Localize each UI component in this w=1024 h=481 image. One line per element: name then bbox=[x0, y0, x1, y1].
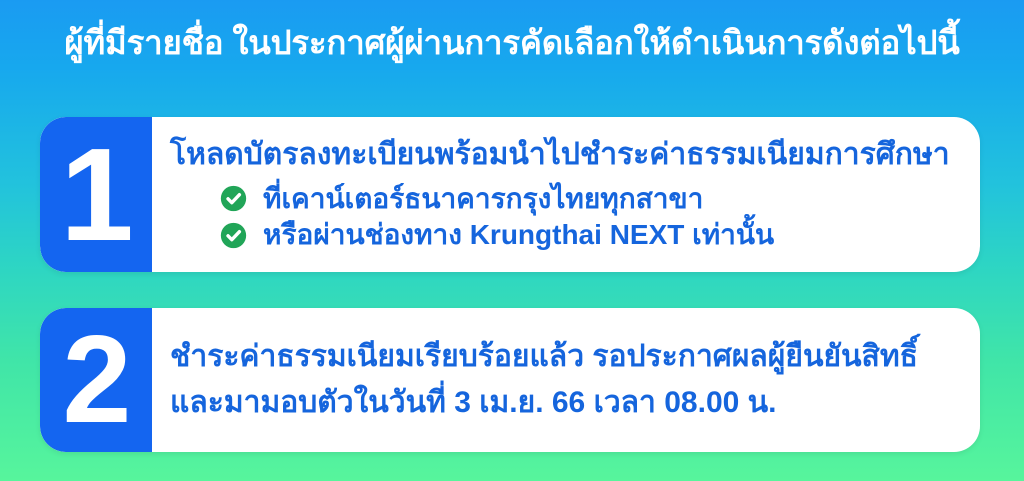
check-circle-icon bbox=[220, 185, 247, 212]
announcement-poster: ผู้ที่มีรายชื่อ ในประกาศผู้ผ่านการคัดเลื… bbox=[0, 0, 1024, 481]
step-number-badge-2: 2 bbox=[40, 308, 152, 452]
step-number-badge-1: 1 bbox=[40, 117, 152, 272]
step-card-1-body: โหลดบัตรลงทะเบียนพร้อมนำไปชำระค่าธรรมเนี… bbox=[152, 117, 980, 272]
step-2-line-1: ชำระค่าธรรมเนียมเรียบร้อยแล้ว รอประกาศผล… bbox=[170, 334, 962, 381]
step-card-2: 2 ชำระค่าธรรมเนียมเรียบร้อยแล้ว รอประกาศ… bbox=[40, 308, 980, 452]
step-card-2-body: ชำระค่าธรรมเนียมเรียบร้อยแล้ว รอประกาศผล… bbox=[152, 308, 980, 452]
check-circle-icon bbox=[220, 222, 247, 249]
step-1-bullet-list: ที่เคาน์เตอร์ธนาคารกรุงไทยทุกสาขา หรือผ่… bbox=[170, 179, 962, 255]
step-1-heading: โหลดบัตรลงทะเบียนพร้อมนำไปชำระค่าธรรมเนี… bbox=[170, 134, 962, 177]
list-item: หรือผ่านช่องทาง Krungthai NEXT เท่านั้น bbox=[170, 218, 962, 252]
page-title: ผู้ที่มีรายชื่อ ในประกาศผู้ผ่านการคัดเลื… bbox=[0, 22, 1024, 63]
list-item: ที่เคาน์เตอร์ธนาคารกรุงไทยทุกสาขา bbox=[170, 182, 962, 216]
step-1-bullet-text: ที่เคาน์เตอร์ธนาคารกรุงไทยทุกสาขา bbox=[263, 182, 703, 216]
step-card-1: 1 โหลดบัตรลงทะเบียนพร้อมนำไปชำระค่าธรรมเ… bbox=[40, 117, 980, 272]
step-1-bullet-text: หรือผ่านช่องทาง Krungthai NEXT เท่านั้น bbox=[263, 218, 774, 252]
step-2-line-2: และมามอบตัวในวันที่ 3 เม.ย. 66 เวลา 08.0… bbox=[170, 380, 962, 427]
